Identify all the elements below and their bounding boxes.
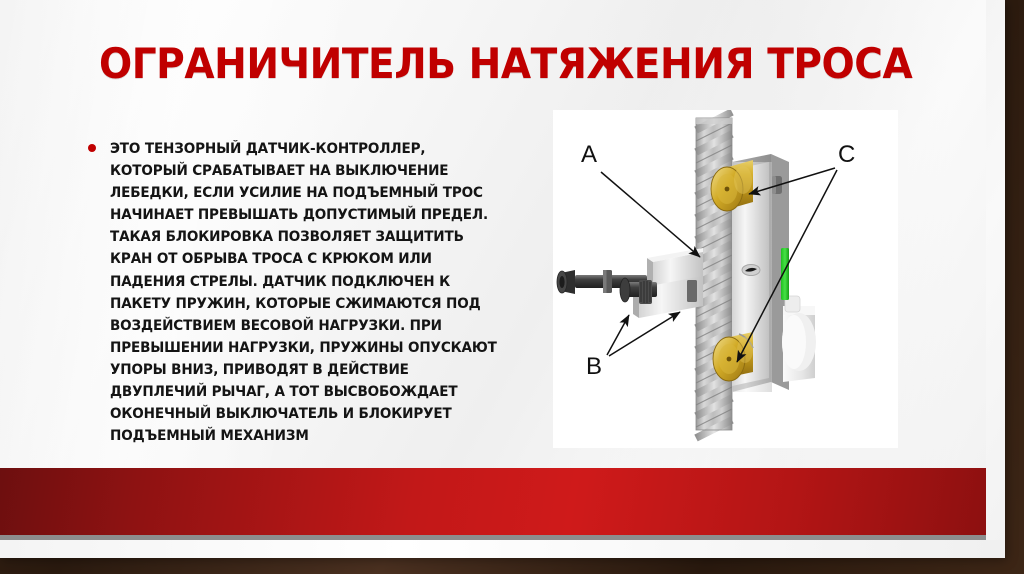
slide-inner-frame: ОГРАНИЧИТЕЛЬ НАТЯЖЕНИЯ ТРОСА ЭТО ТЕНЗОРН… <box>0 0 986 540</box>
callout-label-b: B <box>586 353 602 380</box>
callout-label-a: A <box>581 141 597 168</box>
page-title: ОГРАНИЧИТЕЛЬ НАТЯЖЕНИЯ ТРОСА <box>99 43 750 86</box>
slide-content: ОГРАНИЧИТЕЛЬ НАТЯЖЕНИЯ ТРОСА ЭТО ТЕНЗОРН… <box>0 0 986 540</box>
body-bullet-list: ЭТО ТЕНЗОРНЫЙ ДАТЧИК-КОНТРОЛЛЕР, КОТОРЫЙ… <box>88 138 518 447</box>
accent-band <box>0 468 986 535</box>
figure-panel: A B C <box>553 110 898 448</box>
slide-surface: ОГРАНИЧИТЕЛЬ НАТЯЖЕНИЯ ТРОСА ЭТО ТЕНЗОРН… <box>0 0 1005 558</box>
rope-tension-limiter-diagram: A B C <box>553 110 898 448</box>
body-paragraph: ЭТО ТЕНЗОРНЫЙ ДАТЧИК-КОНТРОЛЛЕР, КОТОРЫЙ… <box>110 138 500 447</box>
list-item: ЭТО ТЕНЗОРНЫЙ ДАТЧИК-КОНТРОЛЛЕР, КОТОРЫЙ… <box>88 138 518 447</box>
bullet-dot-icon <box>88 144 96 152</box>
callout-label-c: C <box>838 141 855 168</box>
slide-bottom-margin <box>0 540 1005 558</box>
slide-root: ОГРАНИЧИТЕЛЬ НАТЯЖЕНИЯ ТРОСА ЭТО ТЕНЗОРН… <box>0 0 1024 574</box>
